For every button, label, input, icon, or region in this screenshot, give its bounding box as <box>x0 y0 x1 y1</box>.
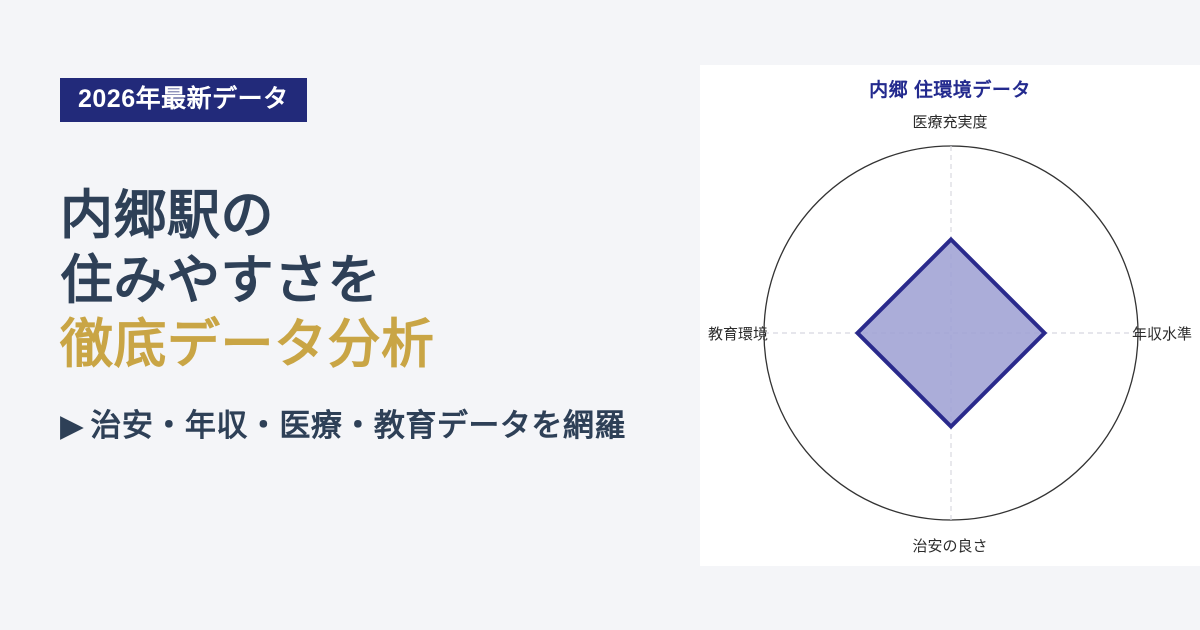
radar-data-polygon <box>858 240 1045 427</box>
page-title: 内郷駅の 住みやすさを 徹底データ分析 <box>60 184 700 378</box>
radar-chart-card: 内郷 住環境データ 医療充実度 年収水準 治安の良さ 教育環境 <box>700 65 1200 566</box>
subtitle: ▶治安・年収・医療・教育データを網羅 <box>60 400 700 445</box>
radar-chart-svg <box>700 65 1200 566</box>
subtitle-text: 治安・年収・医療・教育データを網羅 <box>90 408 626 443</box>
headline-line-1: 内郷駅の <box>60 184 700 249</box>
radar-axis-label-right: 年収水準 <box>1132 323 1192 344</box>
radar-axis-label-top: 医療充実度 <box>700 111 1200 132</box>
hero-panel: 2026年最新データ 内郷駅の 住みやすさを 徹底データ分析 ▶治安・年収・医療… <box>0 0 700 630</box>
radar-axis-label-bottom: 治安の良さ <box>700 535 1200 556</box>
headline-line-2: 住みやすさを <box>60 249 700 314</box>
headline-line-3-accent: 徹底データ分析 <box>60 313 700 378</box>
triangle-right-icon: ▶ <box>60 408 84 443</box>
status-badge: 2026年最新データ <box>60 78 307 122</box>
radar-axis-label-left: 教育環境 <box>708 323 768 344</box>
